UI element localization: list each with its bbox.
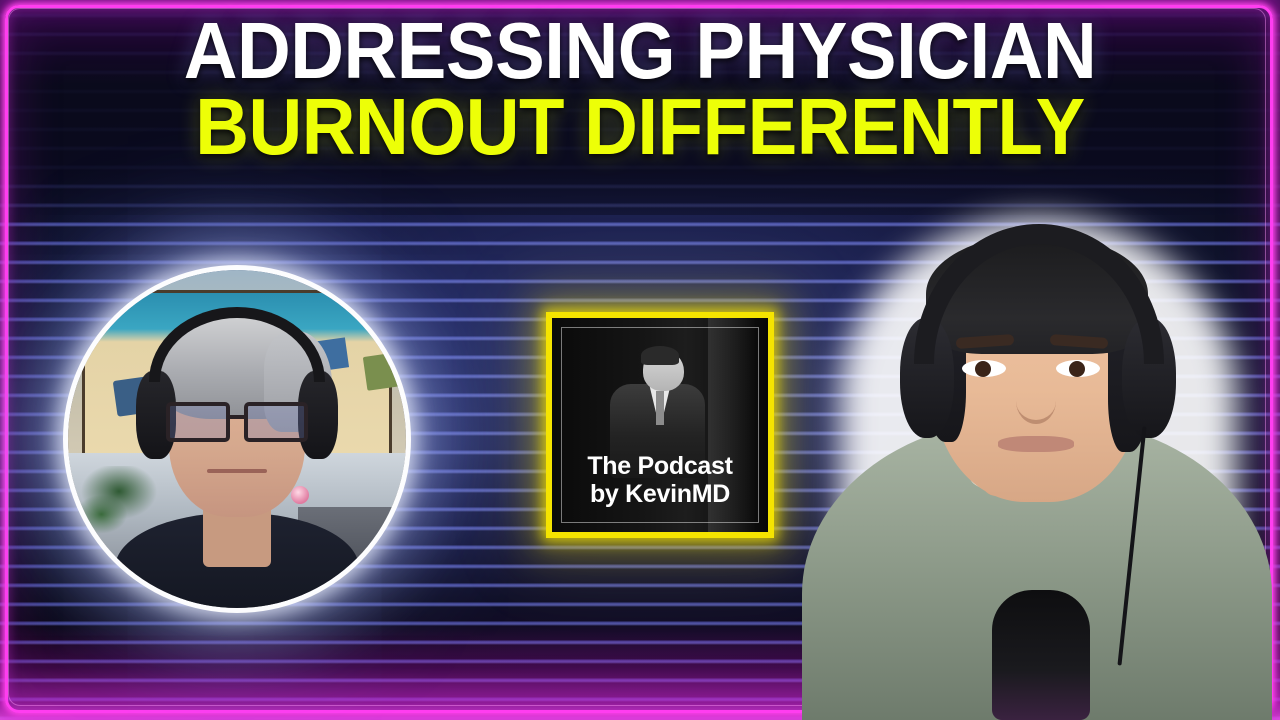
host-portrait (794, 196, 1280, 720)
host-microphone (992, 590, 1090, 720)
podcast-thumbnail: ADDRESSING PHYSICIAN BURNOUT DIFFERENTLY (0, 0, 1280, 720)
podcast-logo: The Podcast by KevinMD (546, 312, 774, 538)
background-dark-top-band (0, 0, 1280, 215)
guest-glasses (166, 402, 308, 443)
guest-mouth (207, 469, 268, 473)
guest-glasses-lens-right (244, 402, 308, 443)
host-eye-left (962, 360, 1006, 377)
podcast-logo-title: The Podcast by KevinMD (552, 452, 768, 508)
host-mouth (998, 436, 1074, 452)
guest-glasses-lens-left (166, 402, 230, 443)
podcast-logo-title-line2: by KevinMD (552, 480, 768, 508)
host-eye-right (1056, 360, 1100, 377)
guest-portrait-circle (68, 270, 406, 608)
podcast-logo-title-line1: The Podcast (552, 452, 768, 480)
guest-glasses-bridge (230, 415, 244, 419)
host-nose (1016, 378, 1056, 424)
